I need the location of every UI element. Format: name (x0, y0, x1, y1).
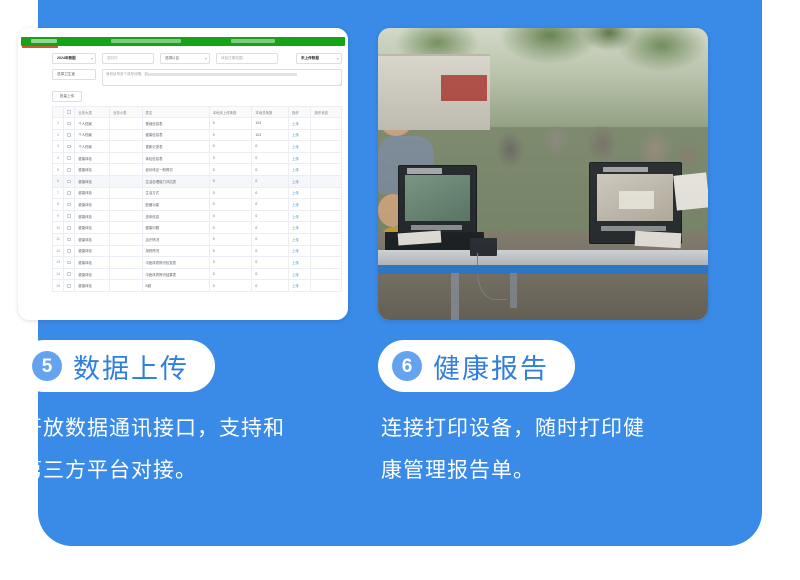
cell-category: 健康体检 (75, 175, 110, 187)
cell-unsent-count: 0 (209, 129, 252, 141)
cell-category: 健康体检 (75, 280, 110, 292)
cell-upload-link[interactable]: 上传 (289, 118, 311, 130)
table-row[interactable]: 10健康体检健康问题00上传 (53, 222, 342, 234)
row-checkbox[interactable] (67, 249, 71, 253)
row-index: 10 (53, 222, 64, 234)
col-operation-status: 操作状态 (311, 107, 342, 118)
section-title: 健康报告 (433, 347, 549, 386)
cell-subcategory (109, 245, 142, 257)
cell-total-count: 0 (252, 187, 289, 199)
cell-subcategory (109, 280, 142, 292)
row-checkbox[interactable] (67, 122, 71, 126)
cell-total-count: 0 (252, 222, 289, 234)
body-line-1: 连接打印设备，随时打印健 (381, 408, 707, 450)
row-checkbox[interactable] (67, 226, 71, 230)
upload-data-table: 业务大类 业务小类 表名 本地未上传条数 本地总条数 操作 操作状态 1个人档案… (52, 106, 342, 292)
cell-operation-status (311, 187, 342, 199)
row-index: 14 (53, 268, 64, 280)
section-number-badge: 6 (392, 351, 422, 381)
cell-operation-status (311, 164, 342, 176)
row-index: 15 (53, 280, 64, 292)
body-line-2: 康管理报告单。 (381, 450, 707, 492)
column-health-report: 6 健康报告 连接打印设备，随时打印健 康管理报告单。 (378, 0, 708, 580)
cell-subcategory (109, 199, 142, 211)
cell-total-count: 0 (252, 245, 289, 257)
cell-table-name: 生活方式 (142, 187, 209, 199)
row-index: 11 (53, 233, 64, 245)
col-select-all[interactable] (64, 107, 75, 118)
table-row[interactable]: 3个人档案更新记录表00上传 (53, 141, 342, 153)
cell-category: 个人档案 (75, 129, 110, 141)
cell-upload-link[interactable]: 上传 (289, 199, 311, 211)
cell-total-count: 0 (252, 233, 289, 245)
cell-unsent-count: 0 (209, 175, 252, 187)
body-line-1: 开放数据通讯接口，支持和 (21, 408, 347, 450)
cell-unsent-count: 0 (209, 268, 252, 280)
row-checkbox[interactable] (67, 238, 71, 242)
row-checkbox[interactable] (67, 261, 71, 265)
header-text-block-2 (111, 39, 181, 43)
header-text-block-3 (231, 39, 275, 43)
date-filter-input[interactable]: 选日付 (102, 53, 154, 64)
clinic-select-label-text: 选择卫生室 (57, 72, 75, 77)
cell-category: 健康体检 (75, 187, 110, 199)
upload-link[interactable]: 上传 (292, 133, 299, 137)
cell-category: 健康体检 (75, 210, 110, 222)
cell-operation-status (311, 257, 342, 269)
upload-link[interactable]: 上传 (292, 249, 299, 253)
row-checkbox-cell[interactable] (64, 268, 75, 280)
cell-table-name: 中医体质辨识检查表 (142, 257, 209, 269)
row-checkbox[interactable] (67, 191, 71, 195)
cell-total-count: 0 (252, 164, 289, 176)
section-heading-health-report: 6 健康报告 (378, 340, 575, 392)
cell-upload-link[interactable]: 上传 (289, 175, 311, 187)
section-heading-data-upload: 5 数据上传 (18, 340, 215, 392)
cell-upload-link[interactable]: 上传 (289, 164, 311, 176)
row-checkbox-cell[interactable] (64, 280, 75, 292)
chevron-down-icon (337, 58, 339, 60)
row-checkbox-cell[interactable] (64, 187, 75, 199)
date-filter-value: 选日付 (107, 56, 118, 61)
row-checkbox[interactable] (67, 214, 71, 218)
column-data-upload: 2024年数据 选日付 选择片区 (18, 0, 348, 580)
cell-unsent-count: 0 (209, 257, 252, 269)
section-body-data-upload: 开放数据通讯接口，支持和 第三方平台对接。 (21, 408, 347, 492)
cell-table-name: 更新记录表 (142, 141, 209, 153)
table-body: 1个人档案基础信息表0103上传2个人档案健康信息表0103上传3个人档案更新记… (53, 118, 342, 292)
exam-date-range-value: 体检日期范围 (221, 56, 243, 61)
cell-subcategory (109, 233, 142, 245)
cell-total-count: 103 (252, 118, 289, 130)
header-accent-underline (22, 46, 58, 48)
upload-link[interactable]: 上传 (292, 238, 299, 242)
cell-table-name: 健康信息表 (142, 129, 209, 141)
cell-subcategory (109, 222, 142, 234)
cell-upload-link[interactable]: 上传 (289, 280, 311, 292)
data-upload-app-window: 2024年数据 选日付 选择片区 (18, 28, 348, 320)
row-checkbox-cell[interactable] (64, 210, 75, 222)
cell-upload-link[interactable]: 上传 (289, 245, 311, 257)
row-checkbox-cell[interactable] (64, 164, 75, 176)
cell-total-count: 0 (252, 141, 289, 153)
row-checkbox[interactable] (67, 272, 71, 276)
cell-subcategory (109, 164, 142, 176)
select-all-checkbox[interactable] (67, 110, 71, 114)
cell-total-count: 0 (252, 280, 289, 292)
clinic-selection-row: 选择卫生室 身份证号多个逗号分隔，如： (52, 69, 342, 87)
cell-upload-link[interactable]: 上传 (289, 141, 311, 153)
textarea-filled-indicator (147, 73, 297, 76)
upload-link[interactable]: 上传 (292, 215, 299, 219)
cell-upload-link[interactable]: 上传 (289, 233, 311, 245)
district-filter-select[interactable]: 选择片区 (160, 53, 210, 64)
cell-unsent-count: 0 (209, 187, 252, 199)
cell-operation-status (311, 129, 342, 141)
cell-subcategory (109, 257, 142, 269)
cell-subcategory (109, 118, 142, 130)
upload-link[interactable]: 上传 (292, 122, 299, 126)
section-body-health-report: 连接打印设备，随时打印健 康管理报告单。 (381, 408, 707, 492)
row-index: 8 (53, 199, 64, 211)
row-checkbox-cell[interactable] (64, 257, 75, 269)
cell-category: 健康体检 (75, 199, 110, 211)
cell-operation-status (311, 245, 342, 257)
poster-root: 2024年数据 选日付 选择片区 (0, 0, 800, 580)
cell-upload-link[interactable]: 上传 (289, 222, 311, 234)
cell-operation-status (311, 233, 342, 245)
row-checkbox-cell[interactable] (64, 233, 75, 245)
cell-upload-link[interactable]: 上传 (289, 257, 311, 269)
cell-category: 健康体检 (75, 152, 110, 164)
col-subcategory: 业务小类 (109, 107, 142, 118)
cell-upload-link[interactable]: 上传 (289, 210, 311, 222)
cell-unsent-count: 0 (209, 141, 252, 153)
row-index: 2 (53, 129, 64, 141)
cell-upload-link[interactable]: 上传 (289, 152, 311, 164)
upload-link[interactable]: 上传 (292, 261, 299, 265)
upload-status-filter-select[interactable]: 未上传数据 (296, 53, 342, 64)
row-checkbox[interactable] (67, 203, 71, 207)
col-category: 业务大类 (75, 107, 110, 118)
cell-total-count: 0 (252, 268, 289, 280)
cell-table-name: 中医体质辨识结果表 (142, 268, 209, 280)
cell-total-count: 0 (252, 152, 289, 164)
two-column-layout: 2024年数据 选日付 选择片区 (0, 0, 800, 580)
cell-operation-status (311, 210, 342, 222)
cell-unsent-count: 0 (209, 233, 252, 245)
upload-link[interactable]: 上传 (292, 157, 299, 161)
row-checkbox-cell[interactable] (64, 152, 75, 164)
cell-upload-link[interactable]: 上传 (289, 268, 311, 280)
chevron-down-icon (205, 58, 207, 60)
cell-subcategory (109, 129, 142, 141)
cell-table-name: 基础信息表 (142, 118, 209, 130)
col-index (53, 107, 64, 118)
row-index: 6 (53, 175, 64, 187)
cell-unsent-count: 0 (209, 280, 252, 292)
health-screening-photo (378, 28, 708, 320)
cell-operation-status (311, 152, 342, 164)
upload-link[interactable]: 上传 (292, 191, 299, 195)
cell-unsent-count: 0 (209, 164, 252, 176)
body-line-2: 第三方平台对接。 (21, 450, 347, 492)
row-index: 12 (53, 245, 64, 257)
row-index: 1 (53, 118, 64, 130)
table-row[interactable]: 8健康体检脏器功能00上传 (53, 199, 342, 211)
cell-table-name: 查体信息 (142, 210, 209, 222)
table-row[interactable]: 14健康体检中医体质辨识结果表00上传 (53, 268, 342, 280)
id-number-placeholder: 身份证号多个逗号分隔，如： (106, 72, 152, 76)
upload-link[interactable]: 上传 (292, 226, 299, 230)
health-event-photo-card (378, 28, 708, 320)
clinic-select-label[interactable]: 选择卫生室 (52, 69, 96, 80)
table-row[interactable]: 15健康体检B超00上传 (53, 280, 342, 292)
cell-operation-status (311, 222, 342, 234)
row-index: 9 (53, 210, 64, 222)
table-row[interactable]: 7健康体检生活方式00上传 (53, 187, 342, 199)
cell-operation-status (311, 175, 342, 187)
cell-unsent-count: 0 (209, 222, 252, 234)
table-row[interactable]: 9健康体检查体信息00上传 (53, 210, 342, 222)
upload-link[interactable]: 上传 (292, 273, 299, 277)
cell-table-name: B超 (142, 280, 209, 292)
cell-unsent-count: 0 (209, 152, 252, 164)
table-row[interactable]: 2个人档案健康信息表0103上传 (53, 129, 342, 141)
cell-operation-status (311, 118, 342, 130)
row-checkbox[interactable] (67, 145, 71, 149)
row-index: 4 (53, 152, 64, 164)
cell-category: 个人档案 (75, 141, 110, 153)
section-number-badge: 5 (32, 351, 62, 381)
row-index: 3 (53, 141, 64, 153)
batch-upload-button[interactable]: 批量上传 (52, 91, 82, 102)
row-checkbox[interactable] (67, 180, 71, 184)
cell-subcategory (109, 210, 142, 222)
cell-table-name: 生活自理能力评估表 (142, 175, 209, 187)
cell-table-name: 症状体征一般情况 (142, 164, 209, 176)
header-text-block-1 (31, 39, 57, 43)
row-checkbox[interactable] (67, 168, 71, 172)
cell-table-name: 治疗情况 (142, 233, 209, 245)
row-checkbox-cell[interactable] (64, 245, 75, 257)
row-checkbox-cell[interactable] (64, 118, 75, 130)
filter-toolbar: 2024年数据 选日付 选择片区 (52, 52, 342, 65)
cell-category: 健康体检 (75, 268, 110, 280)
row-checkbox-cell[interactable] (64, 222, 75, 234)
section-title: 数据上传 (73, 347, 189, 386)
cell-table-name: 用药情况 (142, 245, 209, 257)
table-row[interactable]: 13健康体检中医体质辨识检查表00上传 (53, 257, 342, 269)
exam-date-range-input[interactable]: 体检日期范围 (216, 53, 278, 64)
table-row[interactable]: 1个人档案基础信息表0103上传 (53, 118, 342, 130)
cell-category: 个人档案 (75, 118, 110, 130)
cell-total-count: 0 (252, 199, 289, 211)
cell-total-count: 0 (252, 210, 289, 222)
col-total-count: 本地总条数 (252, 107, 289, 118)
app-screenshot-card: 2024年数据 选日付 选择片区 (18, 28, 348, 320)
col-unsent-count: 本地未上传条数 (209, 107, 252, 118)
cell-subcategory (109, 187, 142, 199)
upload-link[interactable]: 上传 (292, 284, 299, 288)
cell-subcategory (109, 152, 142, 164)
table-row[interactable]: 12健康体检用药情况00上传 (53, 245, 342, 257)
row-index: 7 (53, 187, 64, 199)
row-index: 13 (53, 257, 64, 269)
cell-category: 健康体检 (75, 245, 110, 257)
row-checkbox-cell[interactable] (64, 175, 75, 187)
row-index: 5 (53, 164, 64, 176)
table-row[interactable]: 4健康体检体检信息表00上传 (53, 152, 342, 164)
id-number-textarea[interactable]: 身份证号多个逗号分隔，如： (102, 69, 342, 86)
cell-category: 健康体检 (75, 257, 110, 269)
table-head: 业务大类 业务小类 表名 本地未上传条数 本地总条数 操作 操作状态 (53, 107, 342, 118)
district-filter-value: 选择片区 (165, 56, 179, 61)
cell-operation-status (311, 280, 342, 292)
cell-category: 健康体检 (75, 164, 110, 176)
upload-link[interactable]: 上传 (292, 180, 299, 184)
year-filter-value: 2024年数据 (57, 56, 76, 61)
upload-link[interactable]: 上传 (292, 145, 299, 149)
cell-table-name: 体检信息表 (142, 152, 209, 164)
cell-total-count: 0 (252, 257, 289, 269)
cell-unsent-count: 0 (209, 118, 252, 130)
row-checkbox[interactable] (67, 133, 71, 137)
photo-tone-overlay (378, 28, 708, 320)
table-row[interactable]: 11健康体检治疗情况00上传 (53, 233, 342, 245)
cell-table-name: 脏器功能 (142, 199, 209, 211)
resize-grip-icon[interactable] (339, 83, 341, 85)
cell-total-count: 103 (252, 129, 289, 141)
cell-table-name: 健康问题 (142, 222, 209, 234)
col-table-name: 表名 (142, 107, 209, 118)
table-row[interactable]: 5健康体检症状体征一般情况00上传 (53, 164, 342, 176)
cell-category: 健康体检 (75, 233, 110, 245)
row-checkbox[interactable] (67, 156, 71, 160)
year-filter-select[interactable]: 2024年数据 (52, 53, 96, 64)
table-header-row: 业务大类 业务小类 表名 本地未上传条数 本地总条数 操作 操作状态 (53, 107, 342, 118)
upload-link[interactable]: 上传 (292, 203, 299, 207)
cell-total-count: 0 (252, 175, 289, 187)
row-checkbox-cell[interactable] (64, 199, 75, 211)
cell-upload-link[interactable]: 上传 (289, 187, 311, 199)
cell-unsent-count: 0 (209, 199, 252, 211)
row-checkbox-cell[interactable] (64, 141, 75, 153)
upload-link[interactable]: 上传 (292, 168, 299, 172)
table-row[interactable]: 6健康体检生活自理能力评估表00上传 (53, 175, 342, 187)
app-header-green-bar (21, 37, 345, 46)
row-checkbox-cell[interactable] (64, 129, 75, 141)
upload-status-filter-value: 未上传数据 (301, 56, 319, 61)
batch-upload-label: 批量上传 (60, 94, 74, 99)
row-checkbox[interactable] (67, 284, 71, 288)
cell-subcategory (109, 141, 142, 153)
cell-unsent-count: 0 (209, 245, 252, 257)
cell-operation-status (311, 141, 342, 153)
cell-operation-status (311, 199, 342, 211)
cell-upload-link[interactable]: 上传 (289, 129, 311, 141)
cell-unsent-count: 0 (209, 210, 252, 222)
cell-subcategory (109, 268, 142, 280)
cell-category: 健康体检 (75, 222, 110, 234)
col-operation: 操作 (289, 107, 311, 118)
cell-subcategory (109, 175, 142, 187)
chevron-down-icon (91, 58, 93, 60)
cell-operation-status (311, 268, 342, 280)
